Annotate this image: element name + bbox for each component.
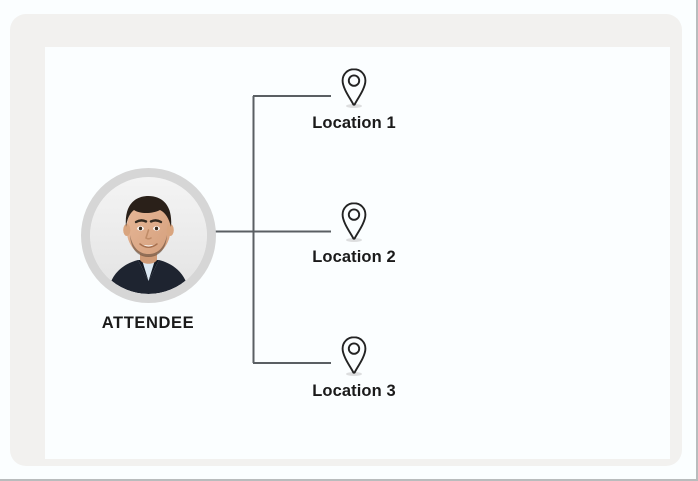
avatar-inner [90, 177, 207, 294]
map-pin-icon [337, 334, 371, 378]
attendee-node[interactable]: ATTENDEE [78, 168, 218, 333]
person-photo-avatar [90, 177, 207, 294]
avatar[interactable] [81, 168, 216, 303]
location-node[interactable]: Location 1 [274, 66, 434, 133]
location-label: Location 2 [274, 248, 434, 267]
page-root: ATTENDEE Location 1 Location 2 Location … [0, 0, 698, 481]
attendee-label: ATTENDEE [78, 314, 218, 333]
map-pin-icon [337, 200, 371, 244]
map-pin-icon [337, 66, 371, 110]
location-label: Location 3 [274, 382, 434, 401]
location-node[interactable]: Location 3 [274, 334, 434, 401]
location-node[interactable]: Location 2 [274, 200, 434, 267]
location-label: Location 1 [274, 114, 434, 133]
